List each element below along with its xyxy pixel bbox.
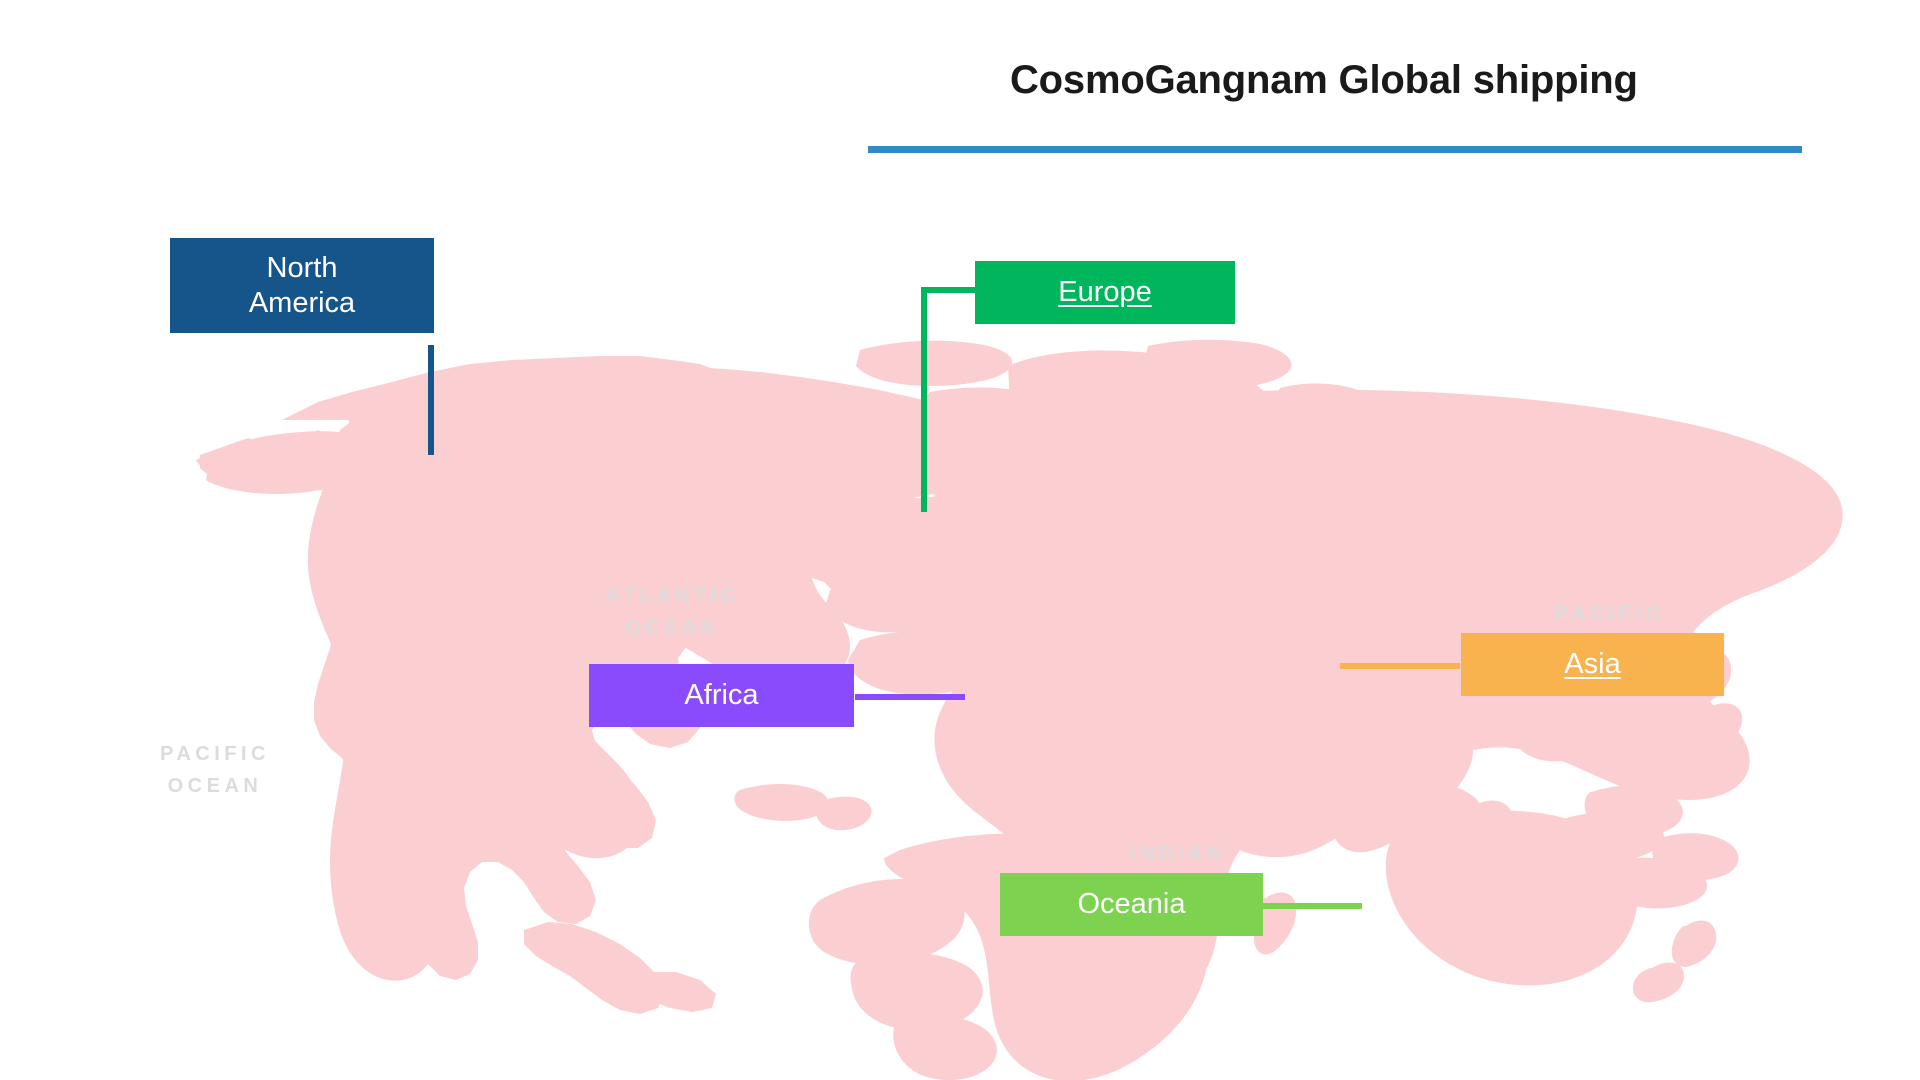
connector-asia	[1340, 663, 1460, 669]
region-label-africa[interactable]: Africa	[589, 664, 854, 727]
region-label-north-america-text: North America	[249, 251, 355, 319]
ocean-label-indian: INDIAN	[1130, 838, 1265, 870]
ocean-label-atlantic: ATLANTIC OCEAN	[580, 580, 765, 644]
region-label-africa-text: Africa	[684, 678, 758, 712]
world-map	[0, 0, 1920, 1080]
region-label-oceania-text: Oceania	[1077, 887, 1185, 921]
slide-canvas: CosmoGangnam Global shipping	[0, 0, 1920, 1080]
ocean-label-pacific-east: PACIFIC	[1555, 598, 1715, 630]
region-label-north-america[interactable]: North America	[170, 238, 434, 333]
connector-north-america	[428, 345, 434, 455]
caribbean-islands	[734, 784, 871, 830]
region-label-oceania[interactable]: Oceania	[1000, 873, 1263, 936]
region-label-asia-text[interactable]: Asia	[1564, 647, 1620, 681]
new-zealand-landmass	[1633, 920, 1716, 1002]
landmasses-group	[196, 340, 1843, 1080]
region-label-asia[interactable]: Asia	[1461, 633, 1724, 696]
connector-oceania	[1252, 903, 1362, 909]
connector-europe-vertical	[921, 287, 927, 512]
region-label-europe[interactable]: Europe	[975, 261, 1235, 324]
connector-europe-horizontal	[921, 287, 981, 293]
connector-africa	[855, 694, 965, 700]
region-label-europe-text[interactable]: Europe	[1058, 275, 1152, 309]
ocean-label-pacific-west: PACIFIC OCEAN	[140, 738, 290, 802]
